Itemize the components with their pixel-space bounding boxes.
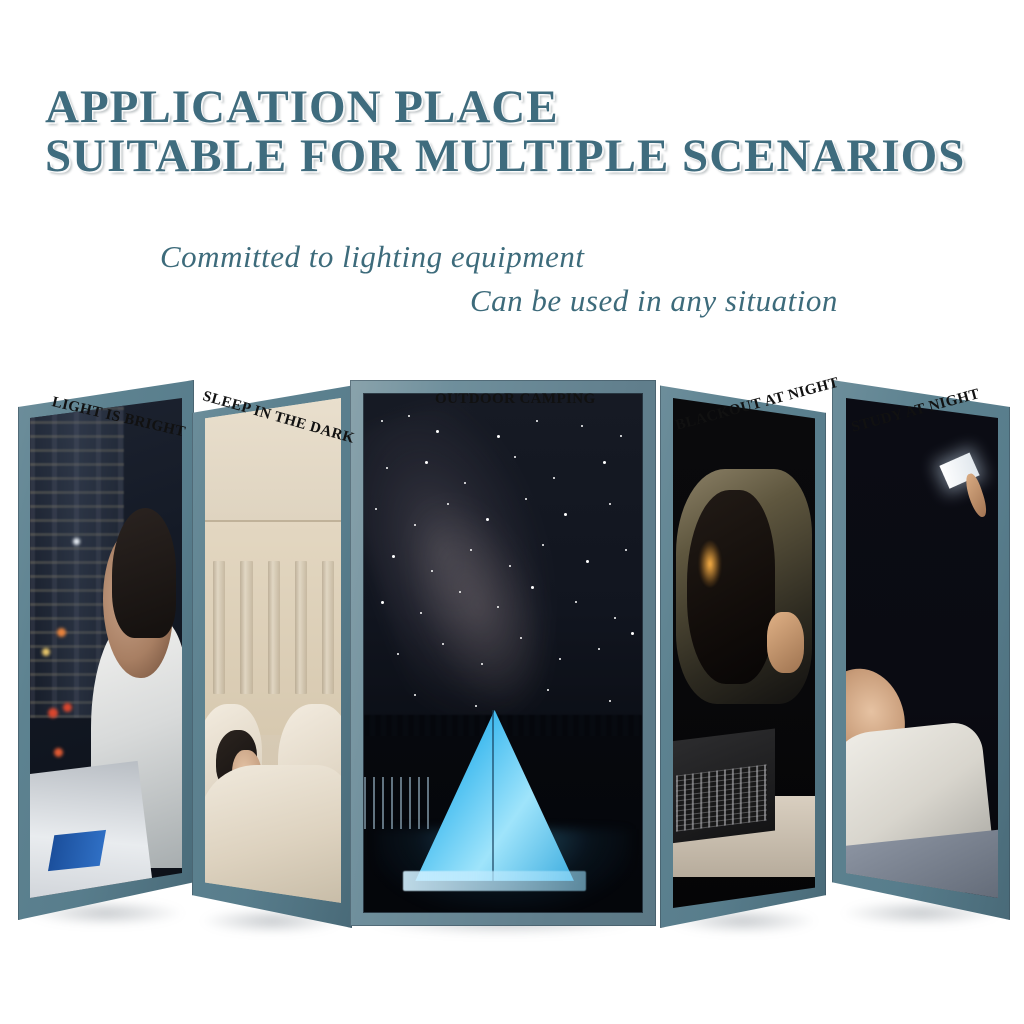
deck-rail-art [364,777,436,829]
subtitle-line-1: Committed to lighting equipment [160,239,585,275]
page-title-line-1: APPLICATION PLACE [45,80,559,134]
panel-outdoor-camping[interactable] [350,380,656,926]
panel-frame [18,380,194,920]
bokeh-light [54,748,63,757]
star [609,700,611,702]
person-hand-art [767,612,804,673]
lamp-glow-art [699,541,722,587]
panel-photo-sleep-in-the-dark [205,398,341,908]
star [459,591,461,593]
headboard-slat [240,561,252,694]
desk-papers-art [30,761,153,898]
headboard-slat [268,561,280,694]
star [620,435,622,437]
star [392,555,395,558]
star [381,420,383,422]
headboard-slat [295,561,307,694]
star [386,467,388,469]
star [442,643,444,645]
star [553,477,555,479]
person-hand-art [963,472,990,519]
star [614,617,616,619]
panel-light-is-bright[interactable] [18,380,194,920]
person-hair-art [687,490,775,684]
star [581,425,583,427]
star [414,524,416,526]
star [536,420,538,422]
headboard-slat [322,561,334,694]
scenario-panel-group: LIGHT IS BRIGHT SLEEP IN THE DARK [0,380,1024,960]
tent-seam-art [492,710,494,881]
subtitle-line-2: Can be used in any situation [470,283,838,319]
star [609,503,611,505]
star [564,513,567,516]
paper-chart-art [48,830,106,871]
star [603,461,606,464]
panel-sleep-in-the-dark[interactable] [192,380,352,928]
panel-photo-outdoor-camping [364,394,642,912]
panel-label-outdoor-camping: OUTDOOR CAMPING [435,391,596,408]
panel-blackout-at-night[interactable] [660,380,826,928]
headboard-slat [213,561,225,694]
star [631,632,634,635]
duvet-art [205,765,341,908]
star [586,560,589,563]
panel-frame [832,380,1010,920]
panel-frame [660,380,826,928]
panel-frame [350,380,656,926]
star [531,586,534,589]
person-hair-art [112,508,176,638]
panel-photo-blackout-at-night [673,398,815,908]
star [598,648,600,650]
panel-photo-light-is-bright [30,398,182,898]
star [431,570,433,572]
laptop-keyboard-art [676,765,767,832]
star [509,565,511,567]
star [575,601,577,603]
star [559,658,561,660]
page-title-line-2: SUITABLE FOR MULTIPLE SCENARIOS [45,129,965,183]
star [381,601,384,604]
star [625,549,627,551]
panel-frame [192,380,352,928]
tent-base-light [403,871,586,892]
star [525,498,527,500]
panel-study-at-night[interactable] [832,380,1010,920]
panel-photo-study-at-night [846,398,998,898]
star [420,612,422,614]
bokeh-light [73,538,80,545]
